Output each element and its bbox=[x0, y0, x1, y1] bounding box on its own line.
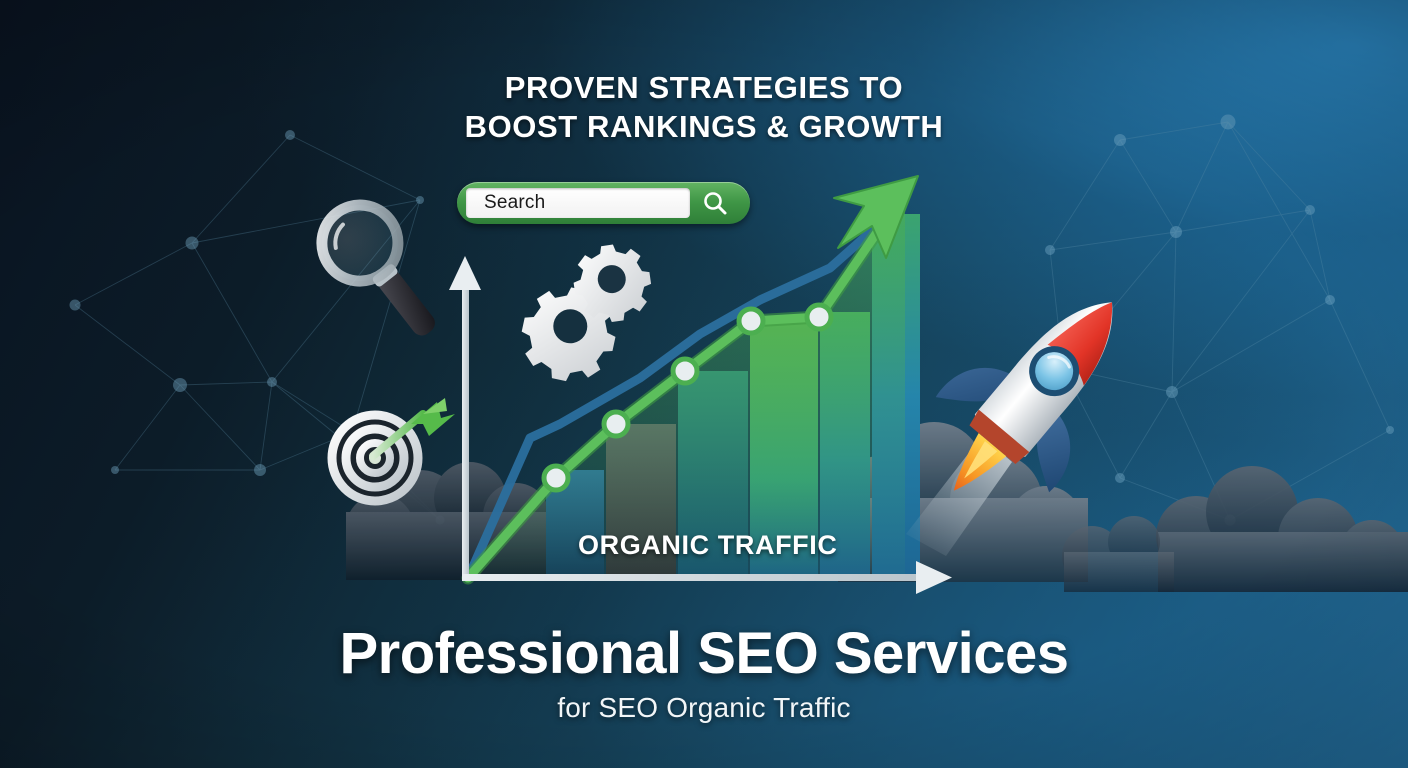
page-title: PROVEN STRATEGIES TO BOOST RANKINGS & GR… bbox=[0, 68, 1408, 146]
search-bar[interactable]: Search bbox=[457, 182, 750, 224]
footer-subtitle: for SEO Organic Traffic bbox=[0, 692, 1408, 724]
poster-canvas: ORGANIC TRAFFIC bbox=[0, 0, 1408, 768]
search-button[interactable] bbox=[690, 182, 740, 224]
headline-line-1: PROVEN STRATEGIES TO bbox=[0, 68, 1408, 107]
footer-title: Professional SEO Services bbox=[0, 620, 1408, 687]
headline-line-2: BOOST RANKINGS & GROWTH bbox=[0, 107, 1408, 146]
search-input[interactable]: Search bbox=[466, 188, 690, 218]
magnifier-icon bbox=[701, 189, 729, 217]
